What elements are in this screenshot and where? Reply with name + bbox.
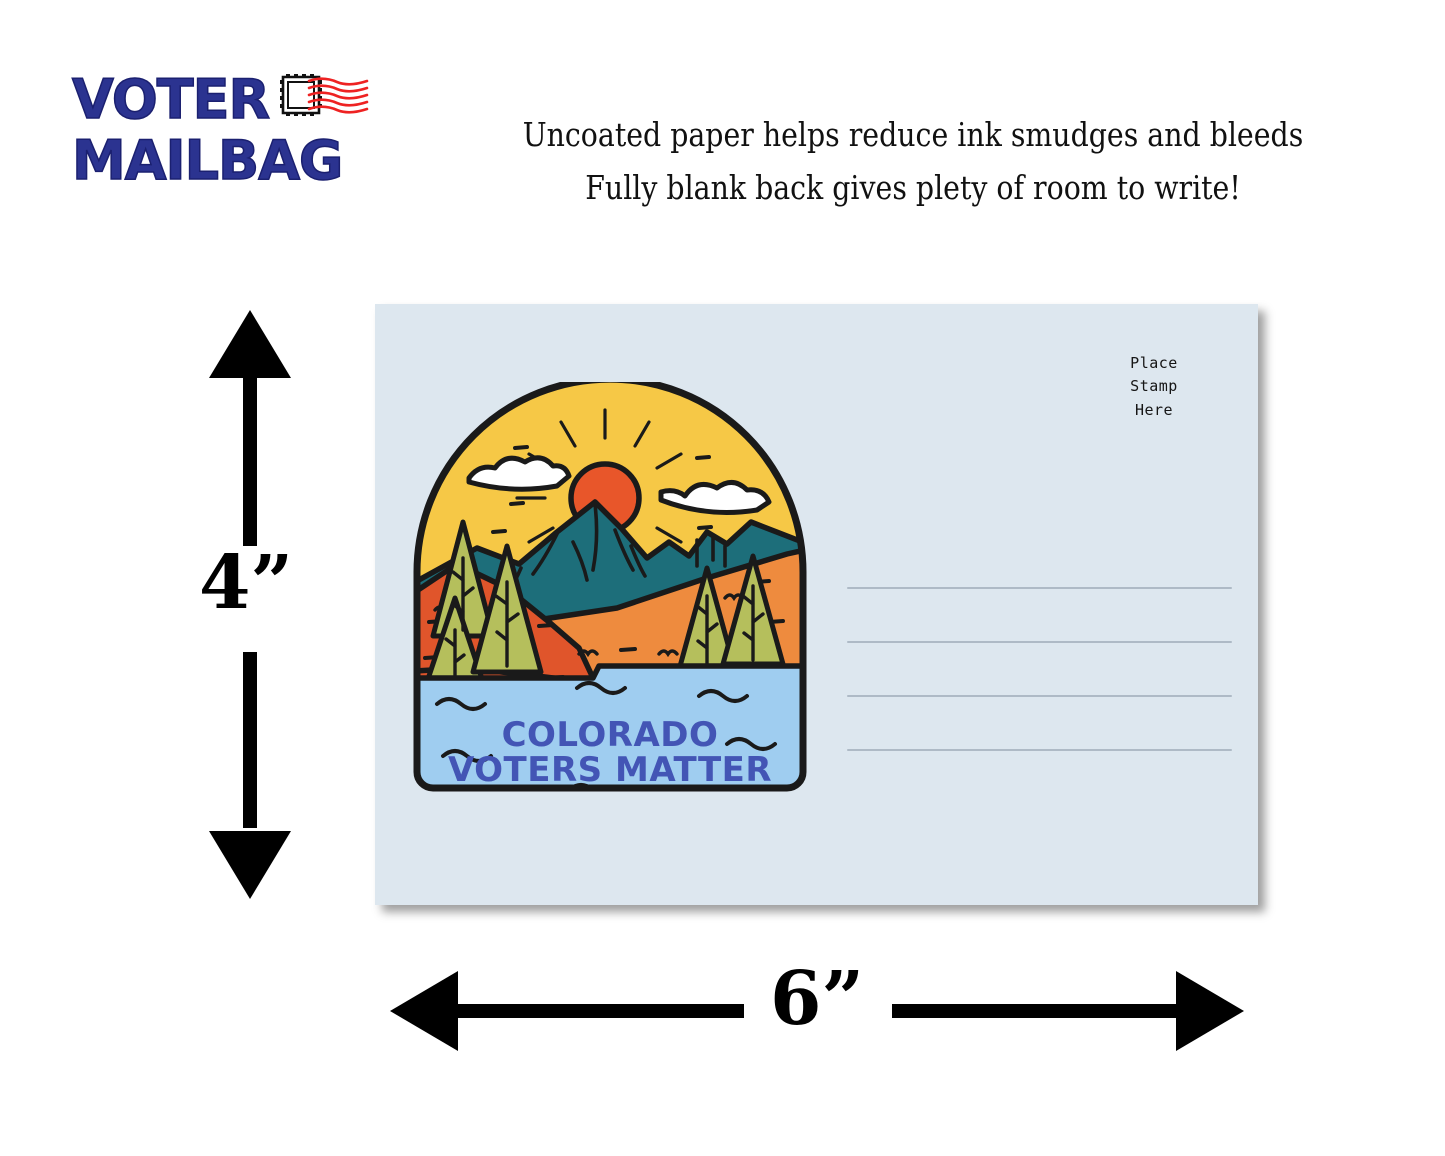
brand-line-2-row: MAILBAG (72, 133, 412, 188)
postcard: Place Stamp Here (375, 304, 1258, 905)
address-lines (847, 587, 1232, 751)
arrow-head-up (209, 310, 291, 378)
colorado-voters-matter-badge: COLORADO VOTERS MATTER (407, 382, 813, 800)
width-dimension-label: 6” (757, 962, 877, 1036)
stamp-box-line-1: Place (1094, 352, 1214, 375)
tagline: Uncoated paper helps reduce ink smudges … (513, 108, 1313, 215)
height-dimension-label: 4” (186, 546, 306, 620)
address-line[interactable] (847, 695, 1232, 697)
brand-word-voter: VOTER (72, 72, 269, 127)
stamp-box-line-2: Stamp (1094, 375, 1214, 398)
address-line[interactable] (847, 641, 1232, 643)
arrow-head-left (390, 971, 458, 1051)
arrow-shaft-right (892, 1004, 1182, 1018)
brand-logo: VOTER (72, 72, 412, 188)
arrow-head-right (1176, 971, 1244, 1051)
arrow-shaft-upper (243, 376, 257, 546)
place-stamp-here-box: Place Stamp Here (1094, 352, 1214, 422)
postage-stamp-cancellation-icon (279, 73, 371, 121)
stamp-box-line-3: Here (1094, 399, 1214, 422)
brand-word-mailbag: MAILBAG (72, 133, 342, 188)
badge-title-line-2: VOTERS MATTER (448, 750, 772, 790)
brand-line-1-row: VOTER (72, 72, 412, 127)
address-line[interactable] (847, 587, 1232, 589)
address-line[interactable] (847, 749, 1232, 751)
arrow-shaft-lower (243, 652, 257, 828)
arrow-shaft-left (454, 1004, 744, 1018)
tagline-line-1: Uncoated paper helps reduce ink smudges … (513, 108, 1313, 161)
arrow-head-down (209, 831, 291, 899)
tagline-line-2: Fully blank back gives plety of room to … (513, 161, 1313, 214)
badge-title-line-1: COLORADO (502, 715, 719, 755)
